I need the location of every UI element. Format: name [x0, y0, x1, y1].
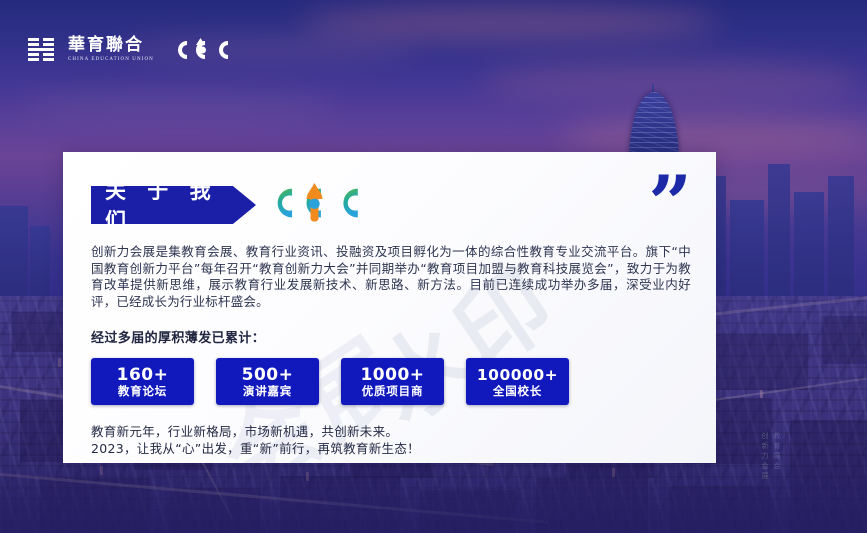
stat-number: 500+: [242, 366, 294, 384]
section-title-row: 关 于 我 们: [91, 185, 688, 225]
stat-card: 1000+ 优质项目商: [341, 358, 444, 405]
stat-label: 全国校长: [493, 384, 542, 398]
background-sign-text-2: 教育展会: [772, 432, 781, 472]
brand-name-en: CHINA EDUCATION UNION: [68, 56, 154, 64]
closing-text: 教育新元年，行业新格局，市场新机遇，共创新未来。 2023，让我从“心”出发，重…: [91, 423, 688, 457]
about-us-panel: 水印 会展 ” 关 于 我 们: [63, 152, 716, 463]
stats-row: 160+ 教育论坛 500+ 演讲嘉宾 1000+ 优质项目商 100000+ …: [91, 358, 688, 405]
closing-line-1: 教育新元年，行业新格局，市场新机遇，共创新未来。: [91, 423, 688, 440]
stat-label: 教育论坛: [118, 384, 167, 398]
page-root: 创新力会展 教育展会 華育聯合 CHINA EDUCATION UNION 水印…: [0, 0, 867, 533]
background-sign-text: 创新力会展: [760, 432, 769, 482]
brand-name-cn: 華育聯合: [68, 36, 154, 55]
stat-card: 500+ 演讲嘉宾: [216, 358, 319, 405]
stat-label: 优质项目商: [362, 384, 424, 398]
about-paragraph: 创新力会展是集教育会展、教育行业资讯、投融资及项目孵化为一体的综合性教育专业交流…: [91, 244, 691, 310]
stat-card: 160+ 教育论坛: [91, 358, 194, 405]
header-logo-bar: 華育聯合 CHINA EDUCATION UNION: [28, 36, 230, 64]
stat-number: 100000+: [477, 366, 558, 384]
stat-number: 1000+: [360, 366, 424, 384]
section-title-badge: 关 于 我 们: [91, 186, 256, 224]
stat-card: 100000+ 全国校长: [466, 358, 569, 405]
stat-number: 160+: [117, 366, 169, 384]
ccic-logo-color-icon: [268, 182, 361, 229]
ccic-logo-white-icon: [172, 37, 230, 63]
china-education-union-emblem-icon: [28, 38, 54, 63]
closing-line-2: 2023，让我从“心”出发，重“新”前行，再筑教育新生态！: [91, 440, 688, 457]
section-title-label: 关 于 我 们: [105, 175, 256, 235]
stat-label: 演讲嘉宾: [243, 384, 292, 398]
stats-subheading: 经过多届的厚积薄发已累计：: [91, 327, 688, 346]
quotation-mark-icon: ”: [648, 166, 692, 242]
